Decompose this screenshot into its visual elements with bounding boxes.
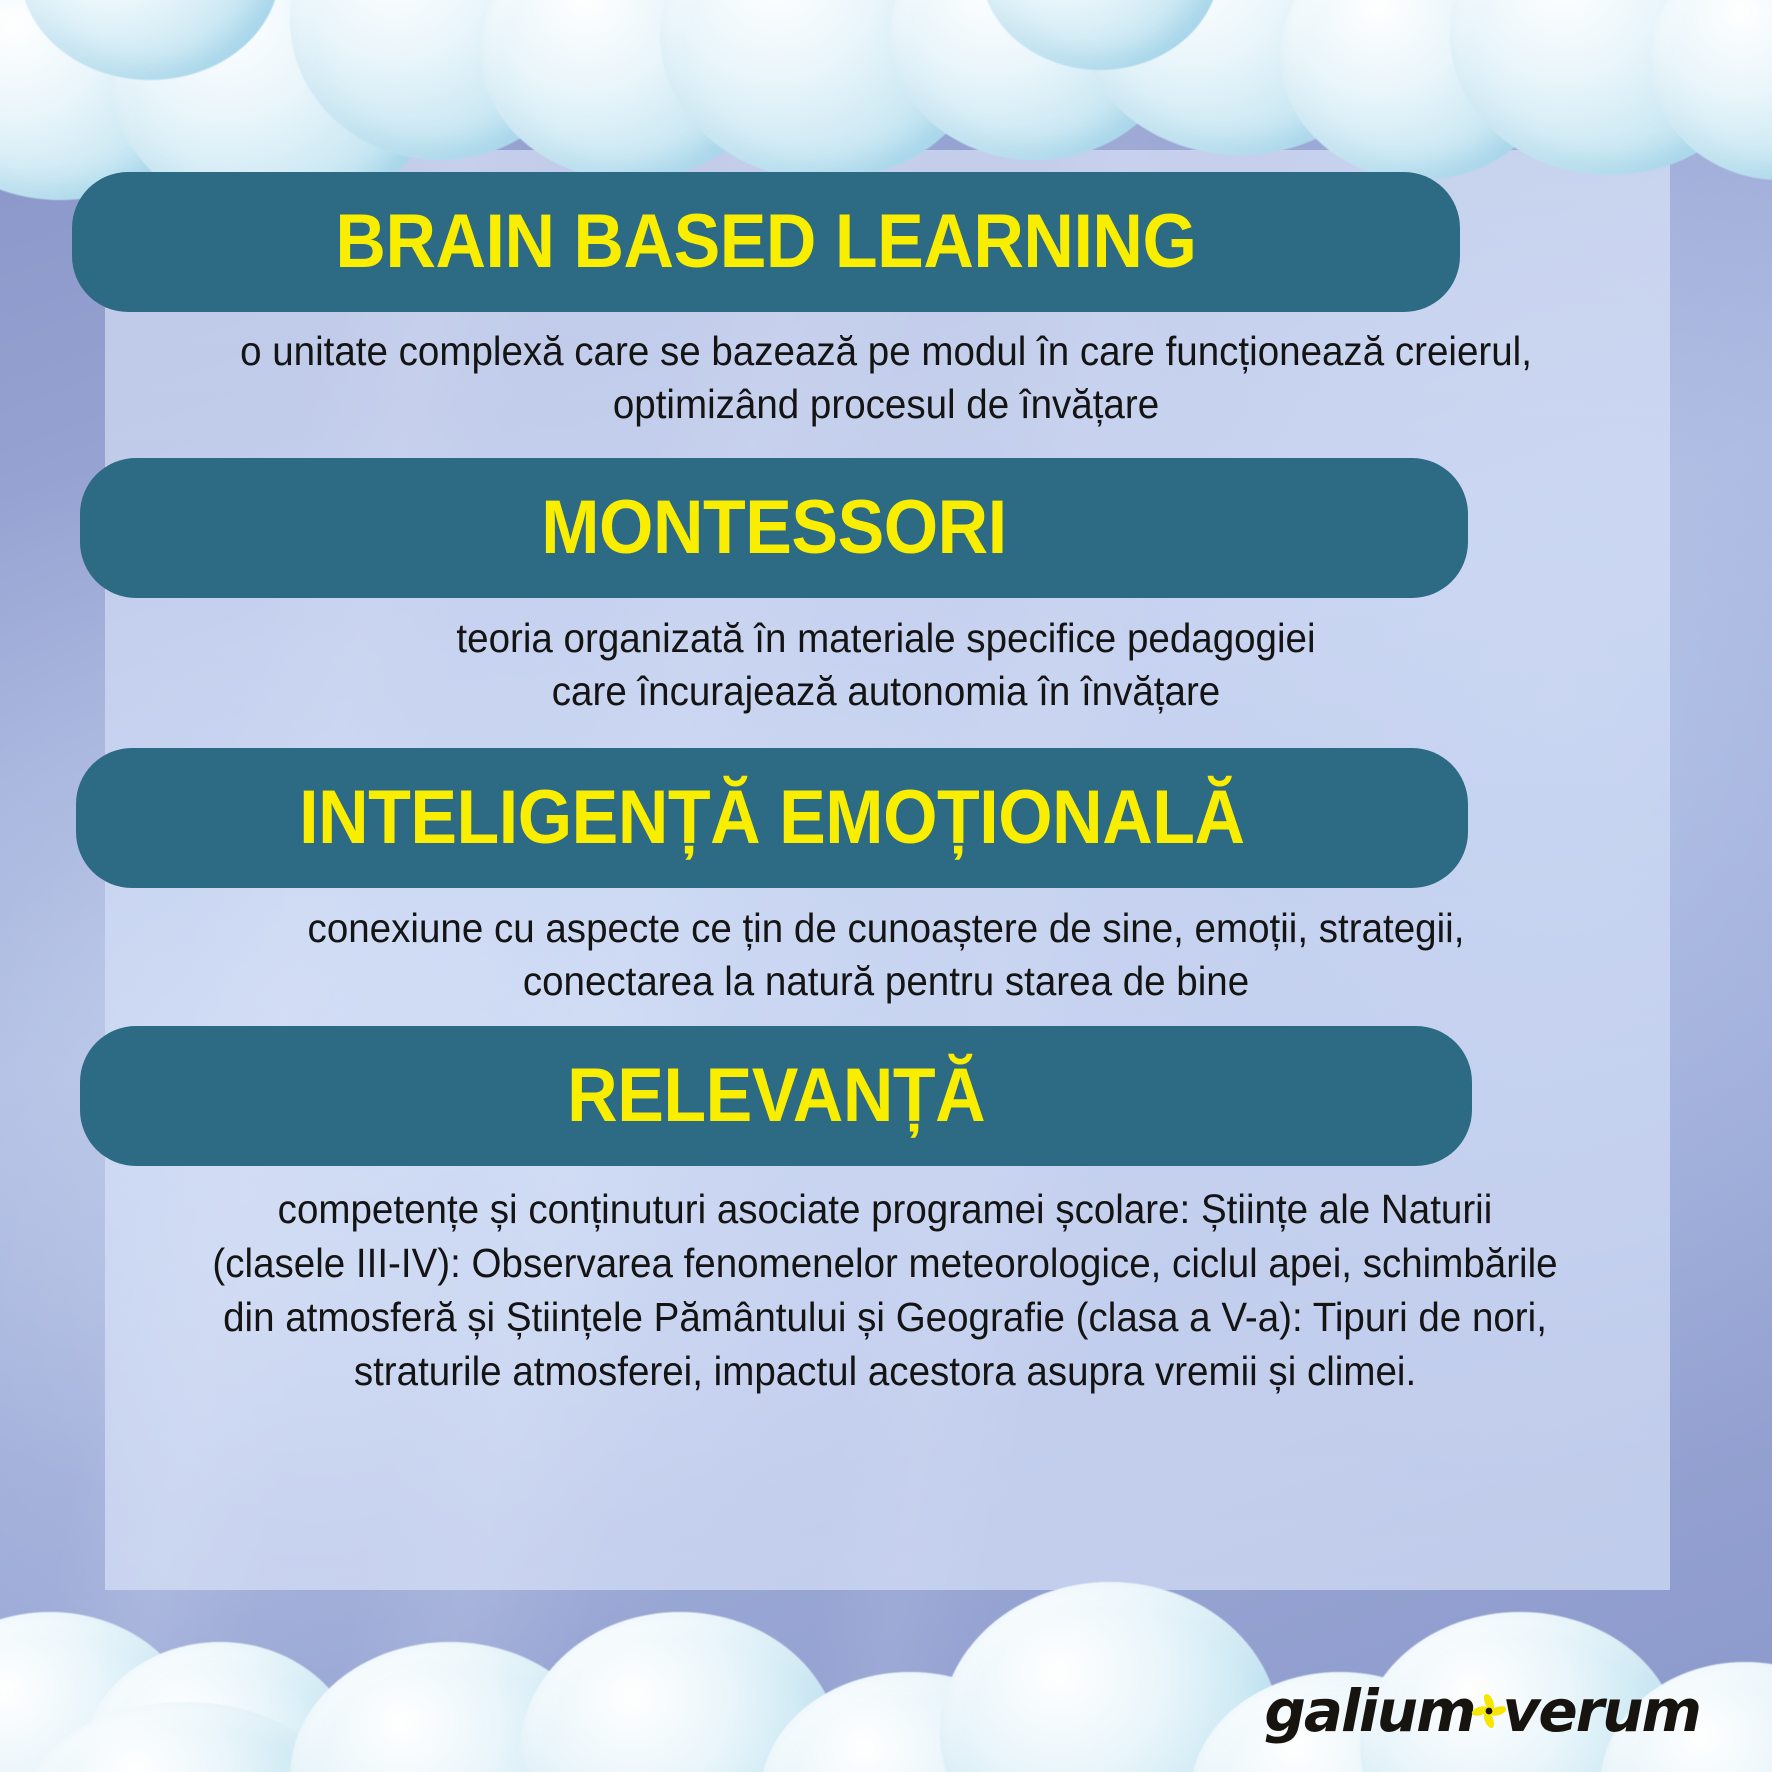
body-line: (clasele III-IV): Observarea fenomenelor…	[119, 1236, 1651, 1290]
logo-text-verum: verum	[1503, 1682, 1700, 1740]
section-heading: INTELIGENȚĂ EMOȚIONALĂ	[299, 780, 1244, 856]
body-line: conexiune cu aspecte ce țin de cunoașter…	[134, 902, 1638, 955]
body-line: conectarea la natură pentru starea de bi…	[134, 955, 1638, 1008]
section-banner-relevanta: RELEVANȚĂ	[80, 1026, 1472, 1166]
brand-logo[interactable]: galium verum	[1264, 1672, 1700, 1750]
flower-icon	[1469, 1691, 1509, 1731]
body-line: competențe și conținuturi asociate progr…	[119, 1182, 1651, 1236]
section-banner-montessori: MONTESSORI	[80, 458, 1468, 598]
section-body-inteligenta-emotionala: conexiune cu aspecte ce țin de cunoașter…	[134, 902, 1638, 1009]
section-body-relevanta: competențe și conținuturi asociate progr…	[119, 1182, 1651, 1398]
section-banner-inteligenta-emotionala: INTELIGENȚĂ EMOȚIONALĂ	[76, 748, 1468, 888]
content-stack: BRAIN BASED LEARNING o unitate complexă …	[0, 0, 1772, 1772]
body-line: teoria organizată în materiale specifice…	[134, 612, 1638, 665]
section-heading: RELEVANȚĂ	[567, 1058, 985, 1134]
body-line: optimizând procesul de învățare	[134, 378, 1638, 431]
section-heading: MONTESSORI	[541, 490, 1006, 566]
section-body-brain-based-learning: o unitate complexă care se bazează pe mo…	[134, 325, 1638, 432]
section-body-montessori: teoria organizată în materiale specifice…	[134, 612, 1638, 719]
body-line: straturile atmosferei, impactul acestora…	[119, 1344, 1651, 1398]
section-heading: BRAIN BASED LEARNING	[336, 204, 1197, 280]
poster-canvas: BRAIN BASED LEARNING o unitate complexă …	[0, 0, 1772, 1772]
logo-text-galium: galium	[1264, 1682, 1474, 1740]
body-line: care încurajează autonomia în învățare	[134, 665, 1638, 718]
section-banner-brain-based-learning: BRAIN BASED LEARNING	[72, 172, 1460, 312]
body-line: o unitate complexă care se bazează pe mo…	[134, 325, 1638, 378]
body-line: din atmosferă și Științele Pământului și…	[119, 1290, 1651, 1344]
